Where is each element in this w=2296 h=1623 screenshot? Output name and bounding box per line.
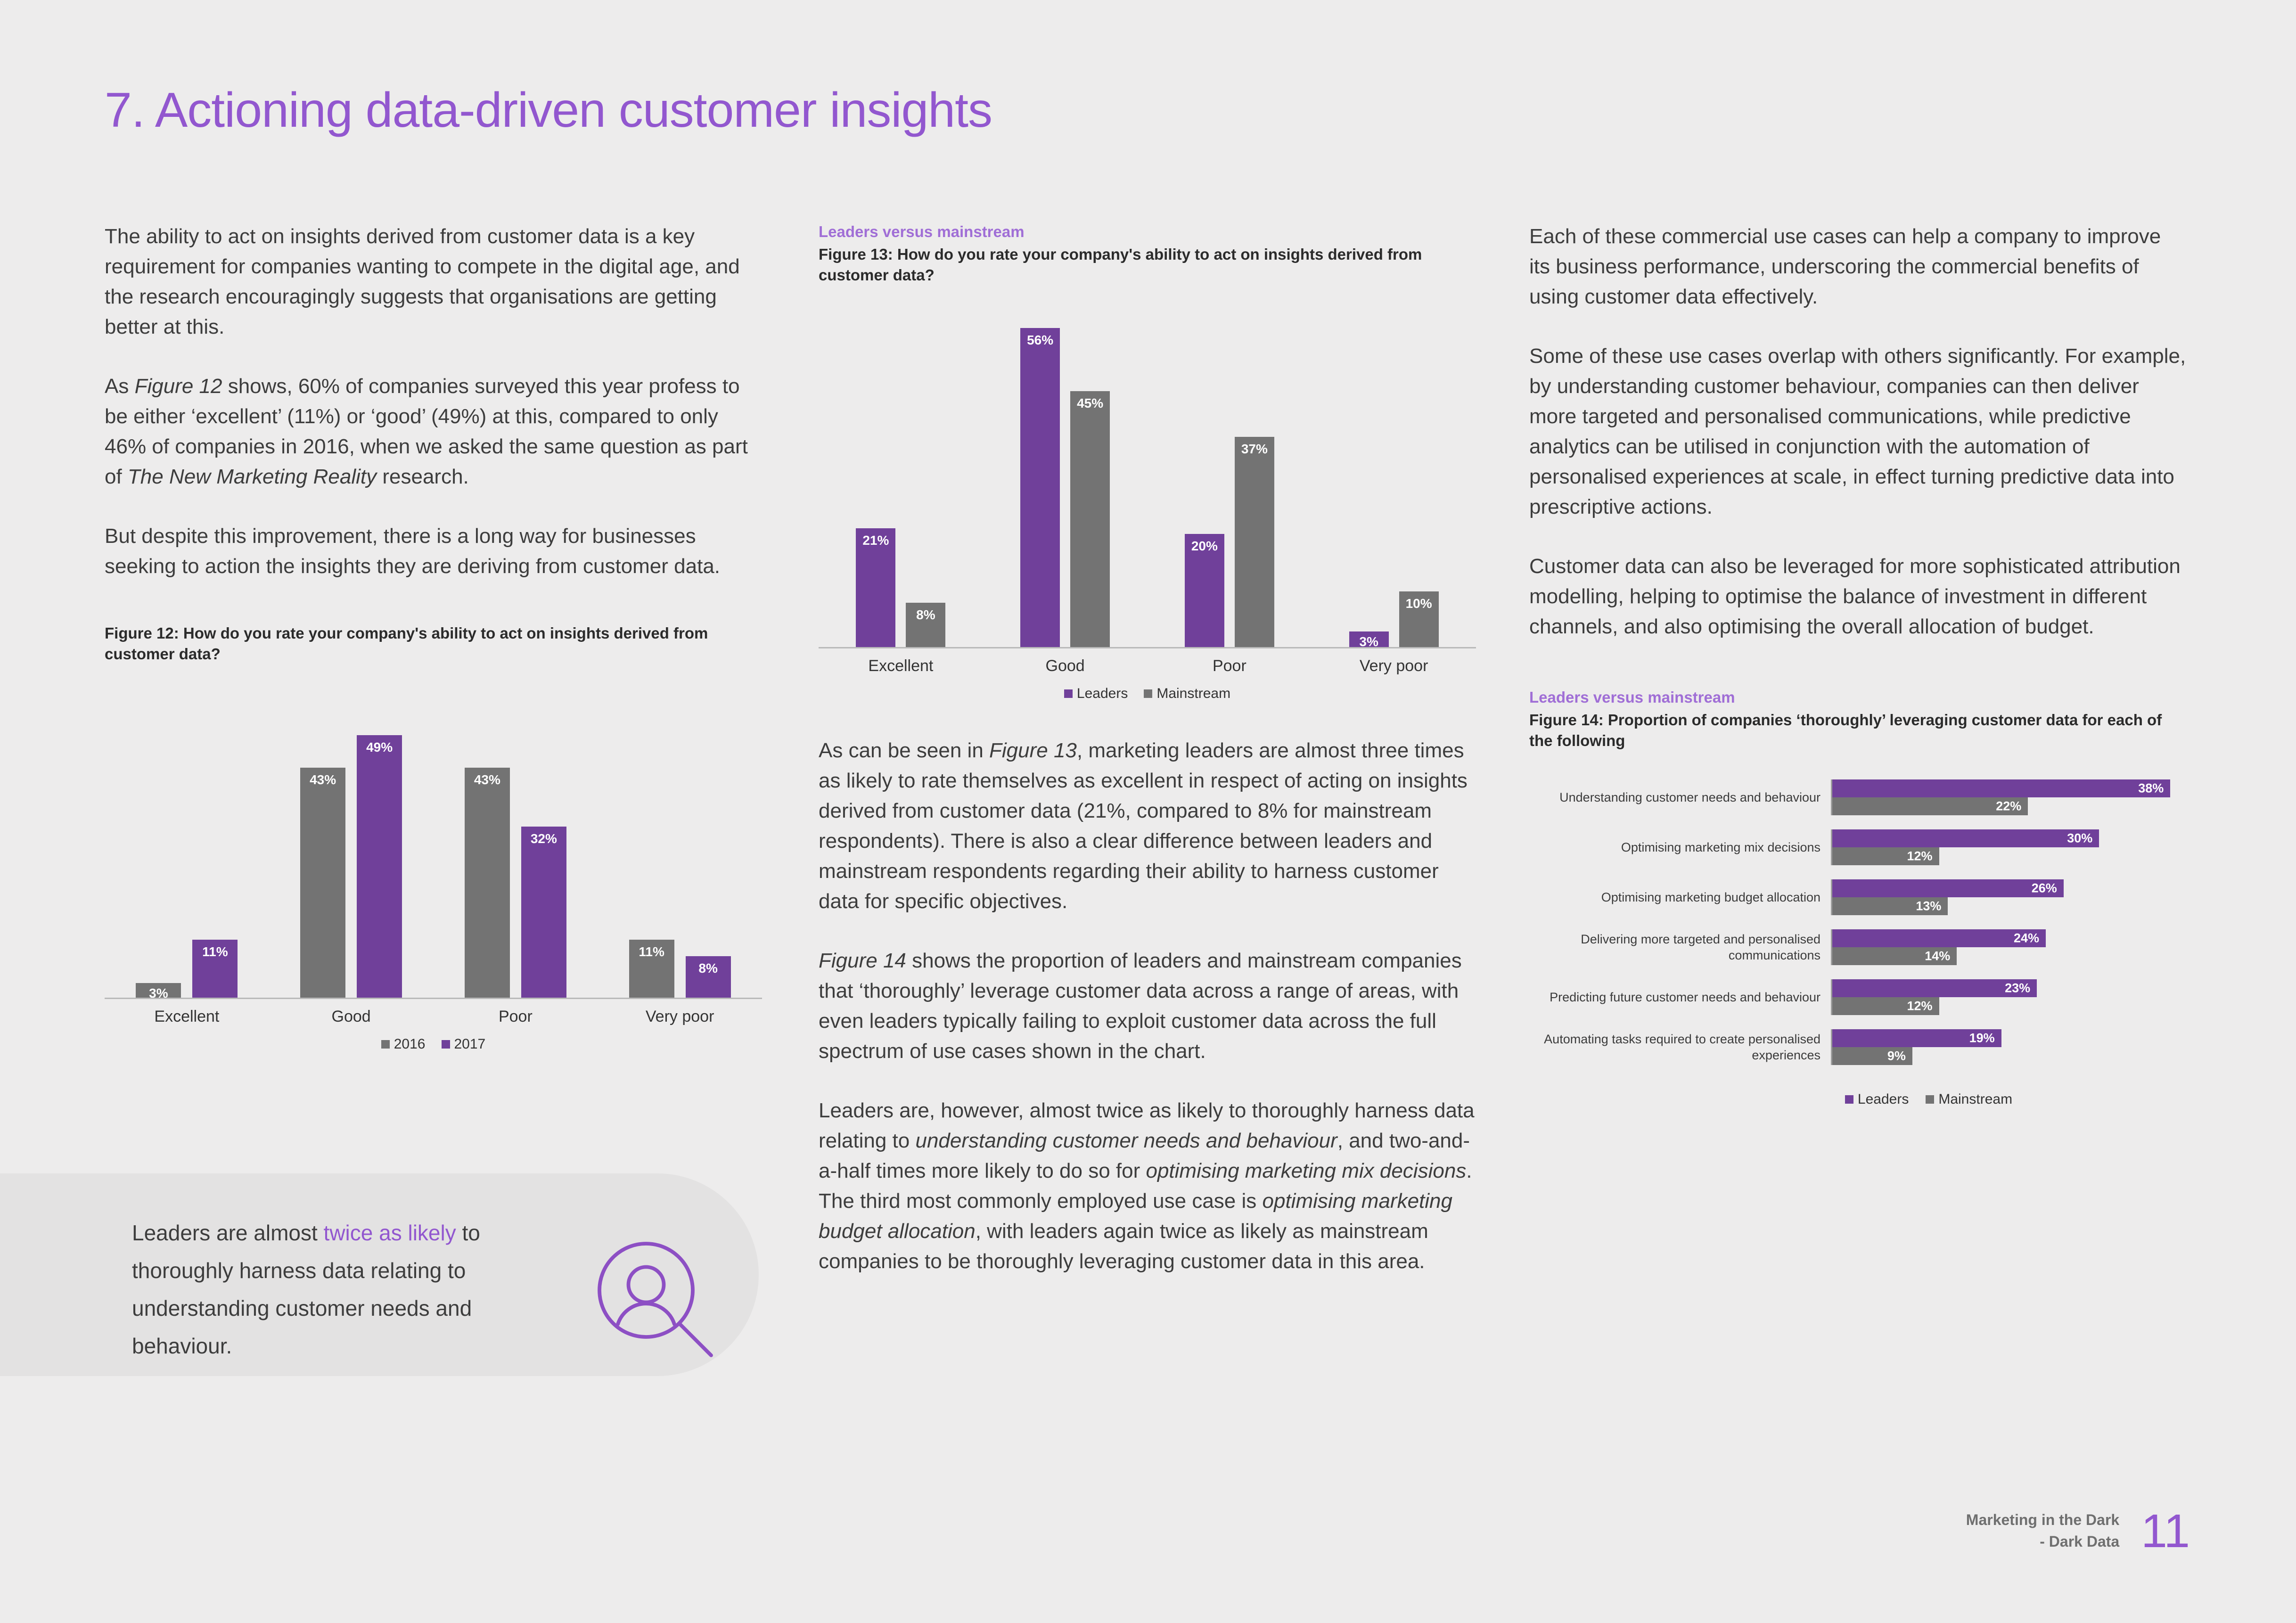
footer-title: Marketing in the Dark - Dark Data [1966, 1509, 2119, 1552]
bar-value-label: 8% [686, 961, 731, 976]
bar-value-label: 19% [1969, 1031, 1995, 1046]
bar-value-label: 56% [1020, 333, 1060, 348]
bar-value-label: 30% [2067, 831, 2092, 846]
bar-value-label: 9% [1887, 1049, 1906, 1064]
category-label: Optimising marketing budget allocation [1529, 889, 1831, 905]
bar-2017: 8% [686, 956, 731, 999]
page-title: 7. Actioning data-driven customer insigh… [105, 82, 992, 139]
bar-2016: 43% [465, 768, 510, 999]
bar-mainstream: 22% [1832, 797, 2028, 815]
bar-2016: 3% [136, 983, 181, 999]
row-spacer [1529, 965, 2187, 979]
bar-value-label: 12% [1907, 999, 1932, 1014]
figure-12-category-labels: ExcellentGoodPoorVery poor [105, 1008, 762, 1026]
bar-leaders: 23% [1832, 979, 2037, 997]
bar-leaders: 21% [856, 528, 895, 648]
y-axis-line [1831, 829, 1832, 865]
bars-cell: 26%13% [1831, 879, 2187, 915]
bar-value-label: 38% [2138, 781, 2164, 796]
legend-label: Leaders [1077, 686, 1128, 702]
bar-value-label: 22% [1996, 799, 2021, 814]
category-label: Excellent [819, 657, 983, 675]
bar-2017: 11% [192, 940, 238, 999]
footer-line-1: Marketing in the Dark [1966, 1509, 2119, 1531]
bar-leaders: 56% [1020, 328, 1060, 648]
category-label: Very poor [598, 1008, 762, 1026]
callout-plain: Leaders are almost [132, 1221, 324, 1245]
legend-item: Leaders [1845, 1091, 1909, 1107]
category-label: Excellent [105, 1008, 269, 1026]
bar-mainstream: 12% [1832, 847, 1939, 865]
legend-label: 2016 [394, 1036, 426, 1052]
paragraph: Customer data can also be leveraged for … [1529, 551, 2187, 642]
row-spacer [1529, 1015, 2187, 1029]
category-label: Delivering more targeted and personalise… [1529, 931, 1831, 963]
legend-label: Mainstream [1156, 686, 1230, 702]
document-page: 7. Actioning data-driven customer insigh… [0, 0, 2296, 1623]
bar-group: 43%32% [434, 697, 598, 999]
figure-13-caption: Figure 13: How do you rate your company'… [819, 244, 1476, 286]
bars-cell: 38%22% [1831, 779, 2187, 815]
row-spacer [1529, 915, 2187, 929]
category-label: Automating tasks required to create pers… [1529, 1031, 1831, 1063]
y-axis-line [1831, 929, 1832, 965]
bar-value-label: 14% [1925, 949, 1950, 964]
figure-13-eyebrow: Leaders versus mainstream [819, 221, 1476, 242]
bar-mainstream: 10% [1399, 591, 1439, 648]
category-label: Very poor [1312, 657, 1476, 675]
figure-12-legend: 20162017 [105, 1036, 762, 1052]
paragraph: The ability to act on insights derived f… [105, 221, 762, 342]
callout-text: Leaders are almost twice as likely to th… [132, 1214, 518, 1365]
bar-value-label: 11% [192, 944, 238, 959]
bar-value-label: 21% [856, 533, 895, 548]
bar-mainstream: 14% [1832, 947, 1957, 965]
figure-14-legend: LeadersMainstream [1529, 1091, 2187, 1107]
bar-value-label: 24% [2014, 931, 2039, 946]
legend-label: Leaders [1858, 1091, 1909, 1107]
y-axis-line [1831, 879, 1832, 915]
bar-mainstream: 8% [906, 603, 945, 648]
figure-12-chart: 3%11%43%49%43%32%11%8% ExcellentGoodPoor… [105, 697, 762, 1052]
paragraph: As can be seen in Figure 13, marketing l… [819, 736, 1476, 917]
bar-2016: 11% [629, 940, 674, 999]
bar-group: 11%8% [598, 697, 762, 999]
figure-14-caption: Figure 14: Proportion of companies ‘thor… [1529, 710, 2187, 751]
row-spacer [1529, 815, 2187, 829]
bar-leaders: 26% [1832, 879, 2064, 897]
x-axis-line [819, 647, 1476, 648]
bar-2017: 49% [357, 735, 402, 999]
figure-13-chart: 21%8%56%45%20%37%3%10% ExcellentGoodPoor… [819, 328, 1476, 702]
bar-mainstream: 37% [1235, 437, 1274, 648]
x-axis-line [105, 998, 762, 999]
bar-leaders: 3% [1349, 631, 1389, 648]
row-spacer [1529, 865, 2187, 879]
bar-row: Automating tasks required to create pers… [1529, 1029, 2187, 1065]
legend-swatch [1144, 689, 1152, 698]
legend-item: 2016 [381, 1036, 426, 1052]
callout-highlight: twice as likely [324, 1221, 456, 1245]
bar-value-label: 23% [2005, 981, 2030, 996]
paragraph: Leaders are, however, almost twice as li… [819, 1096, 1476, 1277]
legend-swatch [442, 1040, 450, 1049]
right-column: Each of these commercial use cases can h… [1529, 221, 2187, 1107]
bar-value-label: 11% [629, 944, 674, 959]
bar-group: 3%10% [1312, 328, 1476, 648]
figure-12-caption: Figure 12: How do you rate your company'… [105, 623, 762, 664]
page-footer: Marketing in the Dark - Dark Data 11 [1966, 1509, 2190, 1552]
legend-label: 2017 [454, 1036, 486, 1052]
bar-value-label: 49% [357, 740, 402, 755]
bar-leaders: 30% [1832, 829, 2099, 847]
legend-item: Mainstream [1926, 1091, 2012, 1107]
legend-swatch [1845, 1095, 1853, 1104]
bar-value-label: 43% [300, 772, 345, 787]
y-axis-line [1831, 1029, 1832, 1065]
bar-value-label: 43% [465, 772, 510, 787]
figure-13-legend: LeadersMainstream [819, 686, 1476, 702]
category-label: Poor [1148, 657, 1312, 675]
legend-swatch [1926, 1095, 1934, 1104]
page-number: 11 [2141, 1510, 2190, 1552]
bar-value-label: 26% [2032, 881, 2057, 896]
bar-group: 56%45% [983, 328, 1148, 648]
paragraph: Figure 14 shows the proportion of leader… [819, 946, 1476, 1066]
magnifier-person-icon [587, 1231, 728, 1375]
bar-leaders: 20% [1185, 534, 1224, 648]
category-label: Good [269, 1008, 434, 1026]
bar-value-label: 13% [1916, 899, 1941, 914]
bar-row: Understanding customer needs and behavio… [1529, 779, 2187, 815]
legend-item: Leaders [1064, 686, 1128, 702]
category-label: Good [983, 657, 1148, 675]
bar-2016: 43% [300, 768, 345, 999]
category-label: Poor [434, 1008, 598, 1026]
paragraph: But despite this improvement, there is a… [105, 521, 762, 582]
paragraph: As Figure 12 shows, 60% of companies sur… [105, 371, 762, 492]
bar-value-label: 8% [906, 607, 945, 623]
category-label: Predicting future customer needs and beh… [1529, 989, 1831, 1005]
left-column: The ability to act on insights derived f… [105, 221, 762, 1052]
bar-value-label: 32% [521, 831, 566, 846]
row-spacer [1529, 1065, 2187, 1079]
bars-cell: 23%12% [1831, 979, 2187, 1015]
bar-group: 20%37% [1148, 328, 1312, 648]
y-axis-line [1831, 979, 1832, 1015]
bar-value-label: 10% [1399, 596, 1439, 611]
bar-row: Optimising marketing mix decisions30%12% [1529, 829, 2187, 865]
bar-mainstream: 12% [1832, 997, 1939, 1015]
legend-item: 2017 [442, 1036, 486, 1052]
bar-value-label: 12% [1907, 849, 1932, 864]
bar-value-label: 37% [1235, 442, 1274, 457]
paragraph: Some of these use cases overlap with oth… [1529, 341, 2187, 522]
figure-14-chart: Understanding customer needs and behavio… [1529, 779, 2187, 1107]
bar-value-label: 45% [1070, 396, 1110, 411]
bar-leaders: 19% [1832, 1029, 2001, 1047]
bars-cell: 19%9% [1831, 1029, 2187, 1065]
bar-row: Predicting future customer needs and beh… [1529, 979, 2187, 1015]
bar-group: 43%49% [269, 697, 434, 999]
bar-value-label: 20% [1185, 539, 1224, 554]
middle-column: Leaders versus mainstream Figure 13: How… [819, 221, 1476, 1277]
bar-leaders: 24% [1832, 929, 2046, 947]
paragraph: Each of these commercial use cases can h… [1529, 221, 2187, 312]
bar-leaders: 38% [1832, 779, 2170, 797]
legend-swatch [1064, 689, 1073, 698]
footer-line-2: - Dark Data [1966, 1531, 2119, 1552]
bar-group: 21%8% [819, 328, 983, 648]
figure-14-eyebrow: Leaders versus mainstream [1529, 687, 2187, 708]
bar-mainstream: 9% [1832, 1047, 1912, 1065]
bar-row: Optimising marketing budget allocation26… [1529, 879, 2187, 915]
bars-cell: 30%12% [1831, 829, 2187, 865]
bar-group: 3%11% [105, 697, 269, 999]
bar-mainstream: 45% [1070, 391, 1110, 648]
figure-13-category-labels: ExcellentGoodPoorVery poor [819, 657, 1476, 675]
bars-cell: 24%14% [1831, 929, 2187, 965]
y-axis-line [1831, 779, 1832, 815]
legend-item: Mainstream [1144, 686, 1230, 702]
bar-mainstream: 13% [1832, 897, 1948, 915]
legend-swatch [381, 1040, 390, 1049]
legend-label: Mainstream [1938, 1091, 2012, 1107]
category-label: Optimising marketing mix decisions [1529, 839, 1831, 855]
category-label: Understanding customer needs and behavio… [1529, 789, 1831, 805]
bar-row: Delivering more targeted and personalise… [1529, 929, 2187, 965]
bar-2017: 32% [521, 827, 566, 999]
